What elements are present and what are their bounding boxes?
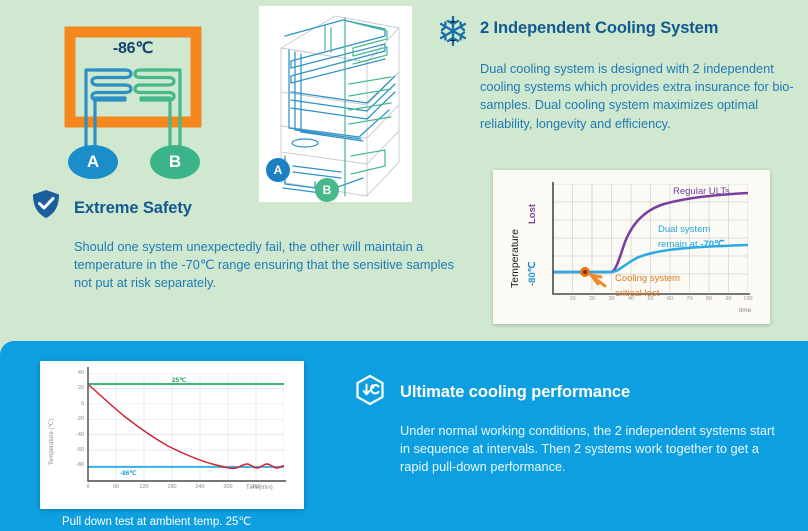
ytick: -40 xyxy=(76,432,84,438)
hexagon-temp-down-icon xyxy=(354,374,386,411)
feature-extreme-safety: Extreme Safety xyxy=(74,199,404,218)
xtick: 50 xyxy=(647,296,653,302)
xtick: 90 xyxy=(725,296,731,302)
chart1-series-label-dual-line1: Dual system xyxy=(658,224,710,237)
chart2-xlabel: Time(min) xyxy=(246,485,273,491)
chart1-series-label-regular: Regular ULTs xyxy=(673,186,730,199)
node-b-badge: B xyxy=(150,145,200,179)
feature-title: Ultimate cooling performance xyxy=(400,383,740,402)
ytick: -20 xyxy=(76,416,84,422)
chart2-ref-label-minus86c: -86℃ xyxy=(120,469,137,477)
feature-extreme-safety-body: Should one system unexpectedly fail, the… xyxy=(74,238,464,293)
shield-check-icon xyxy=(30,188,62,225)
pull-down-test-chart: 40 20 0 -20 -40 -60 -80 0 60 120 180 240… xyxy=(40,361,304,509)
dual-remain-text: remain at xyxy=(658,239,700,250)
xtick: 180 xyxy=(167,484,176,490)
ytick: 20 xyxy=(78,385,84,391)
feature-body: Under normal working conditions, the 2 i… xyxy=(400,422,785,477)
pull-down-test-caption: Pull down test at ambient temp. 25℃ xyxy=(62,514,251,528)
dual-remain-value: -70℃ xyxy=(700,239,724,250)
chart2-ref-label-25c: 25℃ xyxy=(172,376,187,384)
chart1-annotation-line1: Cooling system xyxy=(615,273,680,286)
ytick: -80 xyxy=(76,462,84,468)
xtick: 40 xyxy=(628,296,634,302)
feature-title: Extreme Safety xyxy=(74,199,404,218)
xtick: 240 xyxy=(195,484,204,490)
xtick: 60 xyxy=(667,296,673,302)
chart2-ylabel: Temperature (℃) xyxy=(48,419,55,465)
feature-body: Should one system unexpectedly fail, the… xyxy=(74,238,464,293)
failure-recovery-chart: Temperature Lost -80℃ Regular ULTs Dual … xyxy=(493,170,770,324)
xtick: 120 xyxy=(139,484,148,490)
chart1-xlabel: time xyxy=(739,307,751,314)
dual-coil-diagram: -86℃ A B xyxy=(62,26,204,160)
xtick: 300 xyxy=(223,484,232,490)
ytick: 0 xyxy=(81,401,84,407)
ytick: -60 xyxy=(76,447,84,453)
xtick: 10 xyxy=(569,296,575,302)
unit-tag-a: A xyxy=(266,158,290,182)
chart2-tick-layer: 40 20 0 -20 -40 -60 -80 0 60 120 180 240… xyxy=(88,373,284,481)
chart1-xticks: 10 20 30 40 50 60 70 80 90 100 xyxy=(553,296,748,308)
feature-title: 2 Independent Cooling System xyxy=(480,19,800,38)
xtick: 30 xyxy=(608,296,614,302)
chart1-series-label-dual-line2: remain at -70℃ xyxy=(658,239,725,252)
ytick: 40 xyxy=(78,370,84,376)
node-a-badge: A xyxy=(68,145,118,179)
feature-cooling-system: 2 Independent Cooling System xyxy=(480,19,800,38)
xtick: 60 xyxy=(113,484,119,490)
xtick: 20 xyxy=(589,296,595,302)
snowflake-icon xyxy=(436,14,470,53)
feature-ultimate-cooling: Ultimate cooling performance xyxy=(400,383,740,402)
feature-cooling-system-body: Dual cooling system is designed with 2 i… xyxy=(480,60,796,133)
xtick: 0 xyxy=(86,484,89,490)
temperature-label: -86℃ xyxy=(62,38,204,58)
xtick: 100 xyxy=(743,296,752,302)
xtick: 70 xyxy=(686,296,692,302)
feature-body: Dual cooling system is designed with 2 i… xyxy=(480,60,796,133)
feature-ultimate-cooling-body: Under normal working conditions, the 2 i… xyxy=(400,422,785,477)
xtick: 80 xyxy=(706,296,712,302)
